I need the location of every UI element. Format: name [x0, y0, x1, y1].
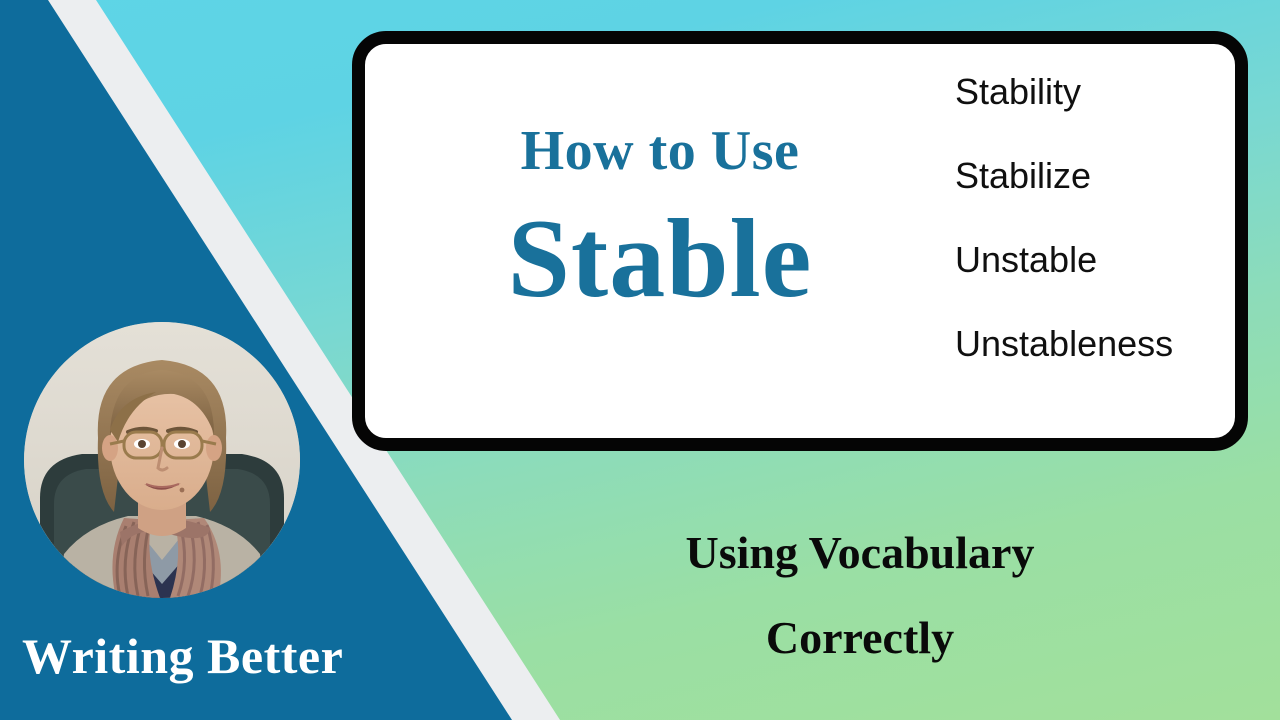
- list-item: Stability: [955, 74, 1235, 110]
- channel-name: Writing Better: [22, 627, 343, 685]
- title-line-1: How to Use: [425, 122, 895, 181]
- video-thumbnail-slide: Writing Better How to Use Stable Stabili…: [0, 0, 1280, 720]
- title-block: How to Use Stable: [425, 122, 895, 322]
- presenter-portrait-photo: [24, 322, 300, 598]
- list-item: Stabilize: [955, 158, 1235, 194]
- word-family-list: Stability Stabilize Unstable Unstablenes…: [955, 74, 1235, 362]
- title-line-2: Stable: [425, 197, 895, 322]
- title-card: How to Use Stable Stability Stabilize Un…: [352, 31, 1248, 451]
- subtitle-line-1: Using Vocabulary: [600, 510, 1120, 595]
- subtitle-line-2: Correctly: [600, 595, 1120, 680]
- list-item: Unstable: [955, 242, 1235, 278]
- avatar: [24, 322, 300, 598]
- list-item: Unstableness: [955, 326, 1235, 362]
- subtitle: Using Vocabulary Correctly: [600, 510, 1120, 680]
